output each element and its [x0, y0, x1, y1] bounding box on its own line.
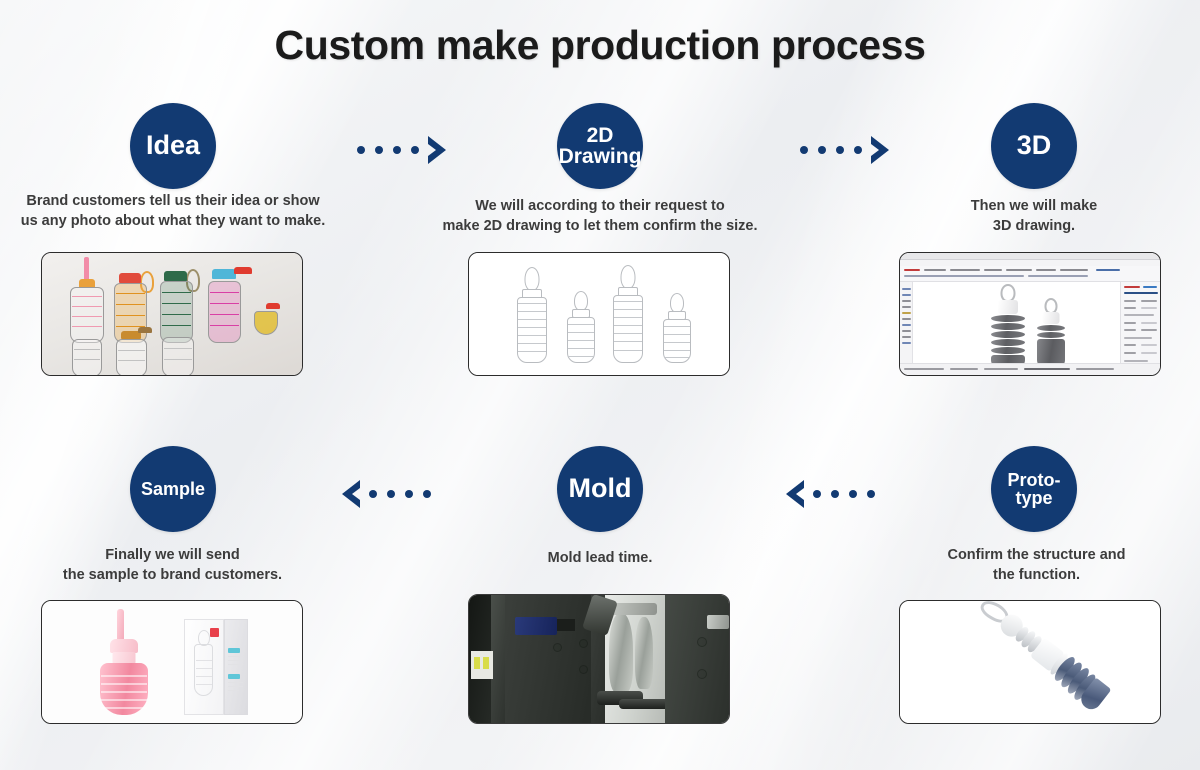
arrow-dot: [831, 490, 839, 498]
step-badge-label: Proto- type: [1005, 471, 1064, 508]
arrow-dot: [393, 146, 401, 154]
arrow-dot: [818, 146, 826, 154]
step-image-card-prototype[interactable]: [899, 600, 1161, 724]
mold-photo: [469, 595, 729, 723]
chevron-left-icon: [780, 478, 808, 510]
connector-arrow-idea-to-2d: [352, 134, 452, 166]
step-badge-label: Sample: [138, 480, 208, 498]
arrow-dot: [369, 490, 377, 498]
step-caption-idea: Brand customers tell us their idea or sh…: [8, 192, 338, 231]
chevron-right-icon: [867, 134, 895, 166]
arrow-dot: [375, 146, 383, 154]
step-badge-mold[interactable]: Mold: [557, 446, 643, 532]
step-caption-prototype: Confirm the structure and the function.: [894, 546, 1179, 585]
prototype-photo: [900, 601, 1160, 723]
line-drawing-image: [469, 253, 729, 375]
step-image-card-sample[interactable]: [41, 600, 303, 724]
step-caption-2d-drawing: We will according to their request to ma…: [420, 197, 780, 236]
step-badge-sample[interactable]: Sample: [130, 446, 216, 532]
step-image-card-3d[interactable]: [899, 252, 1161, 376]
cad-screenshot-image: [900, 253, 1160, 375]
arrow-dot: [867, 490, 875, 498]
arrow-dot: [357, 146, 365, 154]
page-title: Custom make production process: [0, 22, 1200, 69]
step-badge-prototype[interactable]: Proto- type: [991, 446, 1077, 532]
connector-arrow-prototype-to-mold: [780, 478, 880, 510]
step-badge-label: Mold: [566, 475, 635, 503]
step-caption-mold: Mold lead time.: [460, 549, 740, 569]
sketch-photo: [42, 253, 302, 375]
step-badge-idea[interactable]: Idea: [130, 103, 216, 189]
chevron-left-icon: [336, 478, 364, 510]
step-image-card-idea[interactable]: [41, 252, 303, 376]
step-badge-label: Idea: [143, 132, 203, 160]
connector-arrow-2d-to-3d: [795, 134, 895, 166]
step-image-card-2d-drawing[interactable]: [468, 252, 730, 376]
arrow-dot: [849, 490, 857, 498]
arrow-dot: [854, 146, 862, 154]
step-caption-3d: Then we will make 3D drawing.: [894, 197, 1174, 236]
arrow-dot: [423, 490, 431, 498]
step-badge-2d-drawing[interactable]: 2D Drawing: [557, 103, 643, 189]
sample-photo: [42, 601, 302, 723]
infographic-page: Custom make production process Idea Bran…: [0, 0, 1200, 770]
step-image-card-mold[interactable]: [468, 594, 730, 724]
step-badge-label: 3D: [1014, 132, 1055, 160]
arrow-dot: [387, 490, 395, 498]
arrow-dot: [800, 146, 808, 154]
arrow-dot: [836, 146, 844, 154]
connector-arrow-mold-to-sample: [336, 478, 436, 510]
arrow-dot: [813, 490, 821, 498]
step-badge-label: 2D Drawing: [556, 125, 645, 168]
arrow-dot: [405, 490, 413, 498]
step-badge-3d[interactable]: 3D: [991, 103, 1077, 189]
step-caption-sample: Finally we will send the sample to brand…: [30, 546, 315, 585]
chevron-right-icon: [424, 134, 452, 166]
arrow-dot: [411, 146, 419, 154]
